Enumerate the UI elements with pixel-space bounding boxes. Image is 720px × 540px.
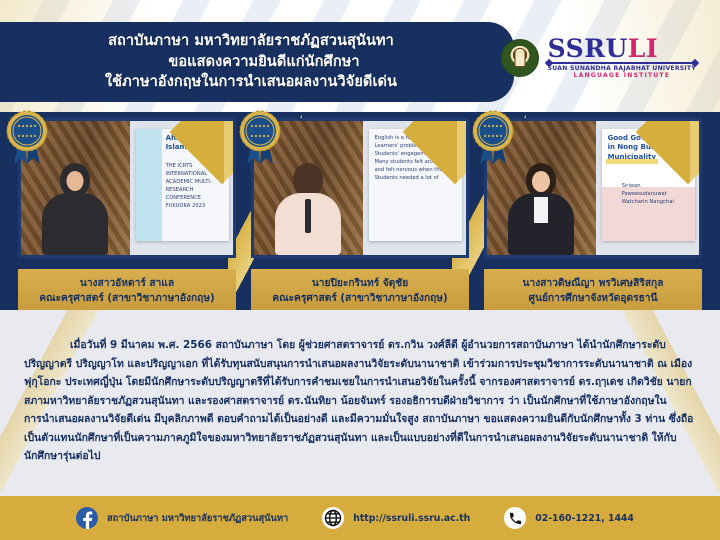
photo-frame: Good Gov in Nong Bua Municipality Siriwa… xyxy=(484,118,702,258)
body-section: เมื่อวันที่ 9 มีนาคม พ.ศ. 2566 สถาบันภาษ… xyxy=(0,310,720,492)
slide-highlight-bar xyxy=(606,159,658,164)
slide-line: Students needed a lot of xyxy=(375,174,456,182)
headline-line-1: สถาบันภาษา มหาวิทยาลัยราชภัฏสวนสุนันทา xyxy=(105,31,397,52)
nameplate: นางสาวดิษณีญา พรวิเศษสิริสกุล ศูนย์การศึ… xyxy=(484,269,702,315)
ssruli-logo: SSRULI SUAN SUNANDHA RAJABHAT UNIVERSITY… xyxy=(501,36,696,79)
headline-banner: สถาบันภาษา มหาวิทยาลัยราชภัฏสวนสุนันทา ข… xyxy=(0,22,514,102)
presenter-shirt xyxy=(534,197,548,223)
nameplate: นายปิยะกรินทร์ จัตุชัย คณะครุศาสตร์ (สาข… xyxy=(251,269,469,315)
award-card: Ahm Islamic THE ICRTS INTERNATIONAL ACAD… xyxy=(18,118,236,315)
nameplate: นางสาวอัหดาร์ สาแล คณะครุศาสตร์ (สาขาวิช… xyxy=(18,269,236,315)
presenter-necktie xyxy=(305,199,311,233)
globe-icon xyxy=(322,507,344,529)
headline-line-3: ใช้ภาษาอังกฤษในการนำเสนอผลงานวิจัยดีเด่น xyxy=(105,72,397,93)
slide-line: FUKUOKA 2023 xyxy=(166,202,223,210)
award-rosette-icon xyxy=(237,108,283,166)
slide-line: RESEARCH CONFERENCE xyxy=(166,186,223,202)
award-card-list: Ahm Islamic THE ICRTS INTERNATIONAL ACAD… xyxy=(0,118,720,315)
presenter-face xyxy=(67,171,84,191)
photo-frame: Ahm Islamic THE ICRTS INTERNATIONAL ACAD… xyxy=(18,118,236,258)
student-name: นางสาวอัหดาร์ สาแล xyxy=(22,276,232,291)
student-faculty: คณะครุศาสตร์ (สาขาวิชาภาษาอังกฤษ) xyxy=(22,291,232,306)
footer-phone-label: 02-160-1221, 1444 xyxy=(535,513,634,524)
student-faculty: คณะครุศาสตร์ (สาขาวิชาภาษาอังกฤษ) xyxy=(255,291,465,306)
headline-text-group: สถาบันภาษา มหาวิทยาลัยราชภัฏสวนสุนันทา ข… xyxy=(105,31,397,93)
award-rosette-icon xyxy=(4,108,50,166)
slide-line: Siriwan xyxy=(622,182,689,190)
logo-word-row: SSRULI xyxy=(548,36,696,61)
logo-word-li: LI xyxy=(628,34,658,63)
photo-frame: English is a foreign language Learners' … xyxy=(251,118,469,258)
footer-phone[interactable]: 02-160-1221, 1444 xyxy=(504,507,634,529)
award-card: English is a foreign language Learners' … xyxy=(251,118,469,315)
logo-subtitle-institute: LANGUAGE INSTITUTE xyxy=(548,73,696,79)
headline-line-2: ขอแสดงความยินดีแก่นักศึกษา xyxy=(105,52,397,73)
student-faculty: ศูนย์การศึกษาจังหวัดอุดรธานี xyxy=(488,291,698,306)
footer-bar: สถาบันภาษา มหาวิทยาลัยราชภัฏสวนสุนันทา h… xyxy=(0,496,720,540)
poster-root: สถาบันภาษา มหาวิทยาลัยราชภัฏสวนสุนันทา ข… xyxy=(0,0,720,540)
slide-side-band xyxy=(136,129,162,241)
presenter-figure xyxy=(42,163,108,255)
slide-line: ACADEMIC MULTI- xyxy=(166,178,223,186)
student-name: นายปิยะกรินทร์ จัตุชัย xyxy=(255,276,465,291)
logo-divider-rule xyxy=(548,62,696,64)
presenter-figure xyxy=(508,163,574,255)
presenter-body xyxy=(42,193,108,255)
slide-line: Watcharin Nangchai xyxy=(622,198,689,206)
phone-icon xyxy=(504,507,526,529)
slide-line: Paweesudanuwat xyxy=(622,190,689,198)
facebook-icon xyxy=(76,507,98,529)
award-card: Good Gov in Nong Bua Municipality Siriwa… xyxy=(484,118,702,315)
presenter-head xyxy=(526,163,556,197)
student-name: นางสาวดิษณีญา พรวิเศษสิริสกุล xyxy=(488,276,698,291)
presenter-head xyxy=(60,163,90,197)
logo-word-ssru: SSRU xyxy=(548,34,628,63)
award-rosette-icon xyxy=(470,108,516,166)
footer-facebook-label: สถาบันภาษา มหาวิทยาลัยราชภัฏสวนสุนันทา xyxy=(107,511,288,526)
presenter-figure xyxy=(275,163,341,255)
footer-website-label: http://ssruli.ssru.ac.th xyxy=(353,513,470,524)
body-paragraph: เมื่อวันที่ 9 มีนาคม พ.ศ. 2566 สถาบันภาษ… xyxy=(24,336,696,466)
presenter-head xyxy=(293,163,323,197)
university-seal-icon xyxy=(501,39,539,77)
logo-wordmark: SSRULI SUAN SUNANDHA RAJABHAT UNIVERSITY… xyxy=(548,36,696,79)
footer-facebook[interactable]: สถาบันภาษา มหาวิทยาลัยราชภัฏสวนสุนันทา xyxy=(76,507,288,529)
presenter-face xyxy=(532,171,550,192)
footer-website[interactable]: http://ssruli.ssru.ac.th xyxy=(322,507,470,529)
